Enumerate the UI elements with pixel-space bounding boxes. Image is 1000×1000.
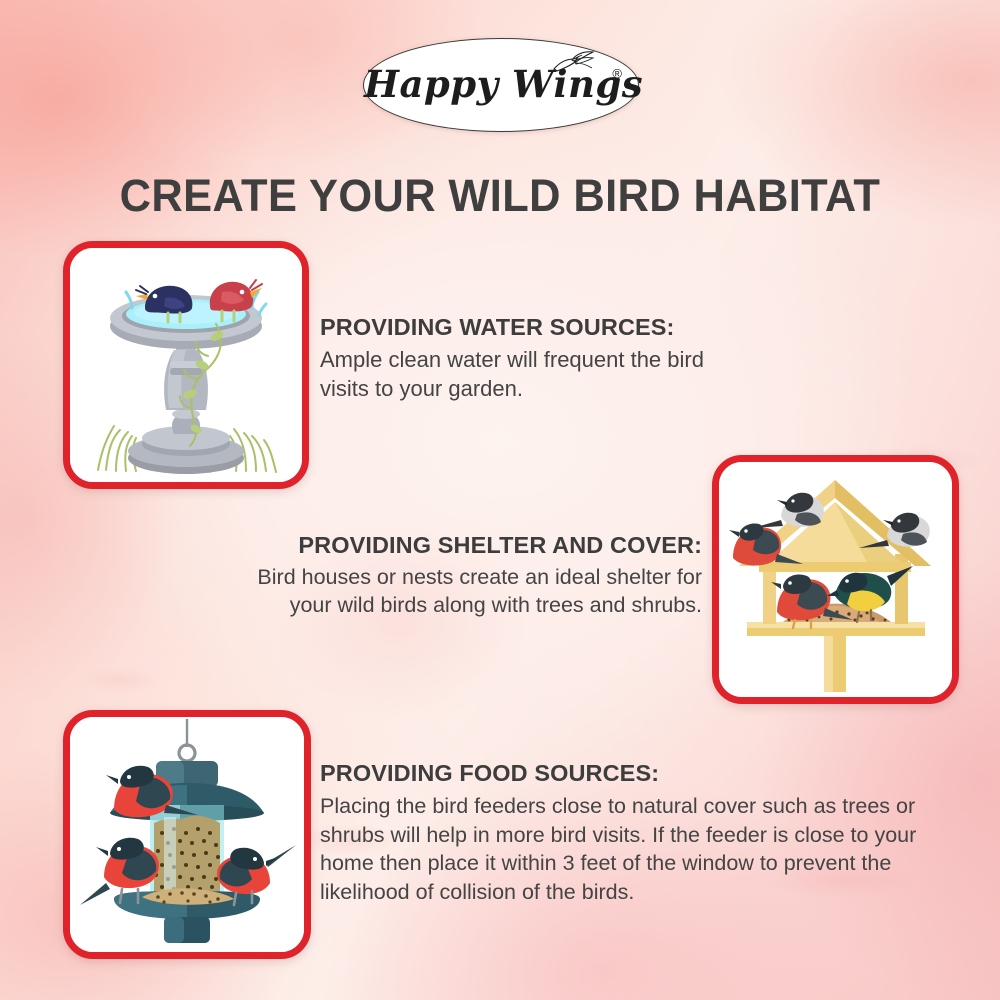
hanging-tube-feeder-illustration: [70, 717, 304, 952]
section-water-text: PROVIDING WATER SOURCES: Ample clean wat…: [320, 314, 740, 403]
illustration-card-shelter: [712, 455, 959, 704]
section-food-text: PROVIDING FOOD SOURCES: Placing the bird…: [320, 760, 950, 906]
registered-trademark-symbol: ®: [612, 66, 622, 81]
page-title: CREATE YOUR WILD BIRD HABITAT: [18, 170, 983, 222]
section-water-heading: PROVIDING WATER SOURCES:: [320, 314, 740, 341]
logo-inner: Happy Wings ®: [364, 39, 638, 131]
logo-wordmark: Happy Wings: [364, 62, 638, 106]
section-food-body: Placing the bird feeders close to natura…: [320, 792, 950, 906]
section-shelter-heading: PROVIDING SHELTER AND COVER:: [240, 532, 702, 559]
infographic-poster: Happy Wings ® CREATE YOUR WILD BIRD HABI…: [0, 0, 1000, 1000]
section-shelter-body: Bird houses or nests create an ideal she…: [240, 564, 702, 620]
illustration-card-water: [63, 241, 309, 489]
bird-house-feeder-illustration: [719, 462, 952, 697]
section-shelter-text: PROVIDING SHELTER AND COVER: Bird houses…: [240, 532, 702, 620]
section-water-body: Ample clean water will frequent the bird…: [320, 346, 740, 403]
brand-logo: Happy Wings ®: [363, 38, 639, 132]
hummingbird-icon: [548, 50, 596, 80]
bird-bath-illustration: [70, 248, 302, 482]
illustration-card-food: [63, 710, 311, 959]
section-food-heading: PROVIDING FOOD SOURCES:: [320, 760, 950, 787]
